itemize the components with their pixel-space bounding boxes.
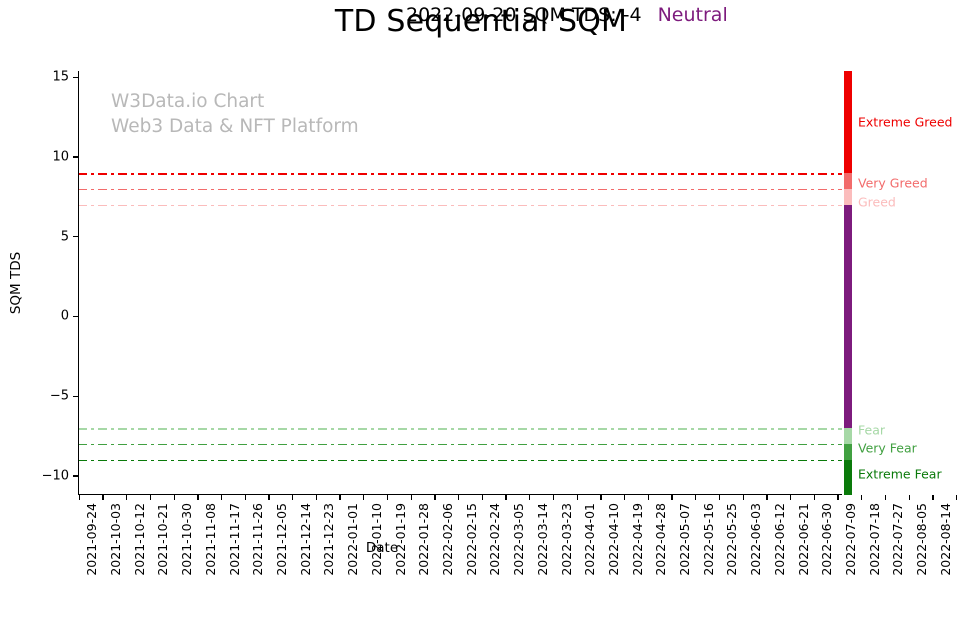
x-axis-tick [174, 495, 175, 500]
x-axis-tick [790, 495, 791, 500]
x-axis-tick [932, 495, 933, 500]
x-axis-tick [363, 495, 364, 500]
x-axis-tick-label: 2022-04-28 [653, 503, 668, 576]
y-axis-tick [73, 236, 78, 237]
x-axis-tick [221, 495, 222, 500]
threshold-line-greed-upper [78, 173, 842, 175]
x-axis-tick [505, 495, 506, 500]
x-axis-tick [837, 495, 838, 500]
x-axis-tick [79, 495, 80, 500]
x-axis-tick-label: 2022-08-14 [938, 503, 953, 576]
x-axis-tick [885, 495, 886, 500]
x-axis-tick-label: 2022-04-10 [606, 503, 621, 576]
colorbar-segment [844, 428, 852, 444]
x-axis-tick-label: 2022-04-01 [582, 503, 597, 576]
plot-area: W3Data.io Chart Web3 Data & NFT Platform… [78, 71, 842, 495]
x-axis-tick [956, 495, 957, 500]
x-axis-tick [909, 495, 910, 500]
colorbar-segment [844, 173, 852, 189]
colorbar-segment [844, 444, 852, 460]
x-axis-tick-label: 2021-11-08 [203, 503, 218, 576]
threshold-line-fear-upper [78, 428, 842, 430]
y-axis-tick [73, 396, 78, 397]
colorbar-label: Extreme Greed [858, 115, 952, 130]
threshold-line-very-fear-upper [78, 444, 842, 446]
x-axis-tick-label: 2022-06-21 [796, 503, 811, 576]
annotation-text: 2022-09-20 SQM TDS: -4 [406, 4, 642, 26]
y-axis-tick-label: 5 [61, 229, 69, 244]
x-axis-tick [150, 495, 151, 500]
colorbar-label: Extreme Fear [858, 467, 942, 482]
x-axis-tick-label: 2021-09-24 [84, 503, 99, 576]
colorbar-segment [844, 189, 852, 205]
x-axis-tick-label: 2022-04-19 [630, 503, 645, 576]
threshold-line-very-greed-upper [78, 189, 842, 191]
x-axis-label: Date [366, 540, 398, 556]
x-axis-line [78, 494, 842, 495]
x-axis-tick-label: 2022-03-05 [511, 503, 526, 576]
x-axis-tick [434, 495, 435, 500]
y-axis-label: SQM TDS [8, 252, 24, 314]
x-axis-tick [268, 495, 269, 500]
x-axis-tick [458, 495, 459, 500]
x-axis-tick [577, 495, 578, 500]
x-axis-tick [648, 495, 649, 500]
y-axis-tick-label: 10 [52, 150, 69, 165]
x-axis-tick-label: 2022-05-16 [701, 503, 716, 576]
x-axis-tick-label: 2022-06-12 [772, 503, 787, 576]
x-axis-tick-label: 2021-11-26 [250, 503, 265, 576]
x-axis-tick [529, 495, 530, 500]
x-axis-tick-label: 2021-10-12 [132, 503, 147, 576]
y-axis-tick [73, 316, 78, 317]
x-axis-tick [316, 495, 317, 500]
x-axis-tick-label: 2022-01-01 [345, 503, 360, 576]
x-axis-tick [743, 495, 744, 500]
x-axis-tick-label: 2022-08-05 [914, 503, 929, 576]
x-axis-tick-label: 2021-12-05 [274, 503, 289, 576]
y-axis-tick [73, 156, 78, 157]
x-axis-tick-label: 2022-02-15 [464, 503, 479, 576]
annotation-state-badge: Neutral [658, 4, 728, 26]
x-axis-tick [600, 495, 601, 500]
x-axis-tick [482, 495, 483, 500]
colorbar-segment [844, 460, 852, 495]
y-axis-tick-label: 0 [61, 309, 69, 324]
x-axis-tick-label: 2021-11-17 [227, 503, 242, 576]
x-axis-tick-label: 2022-03-23 [559, 503, 574, 576]
x-axis-tick-label: 2021-12-14 [298, 503, 313, 576]
x-axis-tick-label: 2022-05-07 [677, 503, 692, 576]
x-axis-tick-label: 2022-05-25 [724, 503, 739, 576]
x-axis-tick-label: 2022-07-09 [843, 503, 858, 576]
x-axis-tick-label: 2022-06-30 [819, 503, 834, 576]
x-axis-tick [861, 495, 862, 500]
x-axis-tick [102, 495, 103, 500]
current-value-annotation: 2022-09-20 SQM TDS: -4Neutral [406, 4, 728, 26]
x-axis-tick [411, 495, 412, 500]
y-axis-tick-label: 15 [52, 70, 69, 85]
x-axis-tick-label: 2022-07-27 [890, 503, 905, 576]
chart-page: TD Sequential SQM 2022-09-20 SQM TDS: -4… [0, 0, 962, 633]
x-axis-tick [245, 495, 246, 500]
x-axis-tick-label: 2022-07-18 [867, 503, 882, 576]
x-axis-tick-label: 2021-12-23 [321, 503, 336, 576]
x-axis-tick [197, 495, 198, 500]
y-axis-line [78, 71, 79, 495]
colorbar-segment [844, 205, 852, 428]
y-axis-tick-label: −10 [42, 468, 69, 483]
x-axis-tick [126, 495, 127, 500]
x-axis-tick [292, 495, 293, 500]
x-axis-tick-label: 2021-10-03 [108, 503, 123, 576]
x-axis-tick [339, 495, 340, 500]
x-axis-tick [671, 495, 672, 500]
x-axis-tick [695, 495, 696, 500]
colorbar-label: Very Fear [858, 440, 917, 455]
x-axis-tick-label: 2021-10-21 [155, 503, 170, 576]
x-axis-tick-label: 2022-02-06 [440, 503, 455, 576]
x-axis-tick [719, 495, 720, 500]
y-axis-tick [73, 77, 78, 78]
x-axis-tick [387, 495, 388, 500]
x-axis-tick-label: 2022-06-03 [748, 503, 763, 576]
x-axis-tick [766, 495, 767, 500]
colorbar-label: Very Greed [858, 176, 928, 191]
x-axis-tick-label: 2021-10-30 [179, 503, 194, 576]
watermark: W3Data.io Chart Web3 Data & NFT Platform [111, 89, 359, 139]
sentiment-colorbar [844, 71, 852, 495]
x-axis-tick-label: 2022-03-14 [535, 503, 550, 576]
x-axis-tick [624, 495, 625, 500]
x-axis-tick [553, 495, 554, 500]
x-axis-tick-label: 2022-02-24 [487, 503, 502, 576]
threshold-line-extreme-fear-upper [78, 460, 842, 462]
colorbar-segment [844, 71, 852, 173]
colorbar-label: Greed [858, 194, 896, 209]
y-axis-tick [73, 475, 78, 476]
y-axis-tick-label: −5 [50, 389, 69, 404]
x-axis-tick-label: 2022-01-28 [416, 503, 431, 576]
x-axis-tick [814, 495, 815, 500]
threshold-line-greed-lower [78, 205, 842, 207]
colorbar-label: Fear [858, 422, 885, 437]
